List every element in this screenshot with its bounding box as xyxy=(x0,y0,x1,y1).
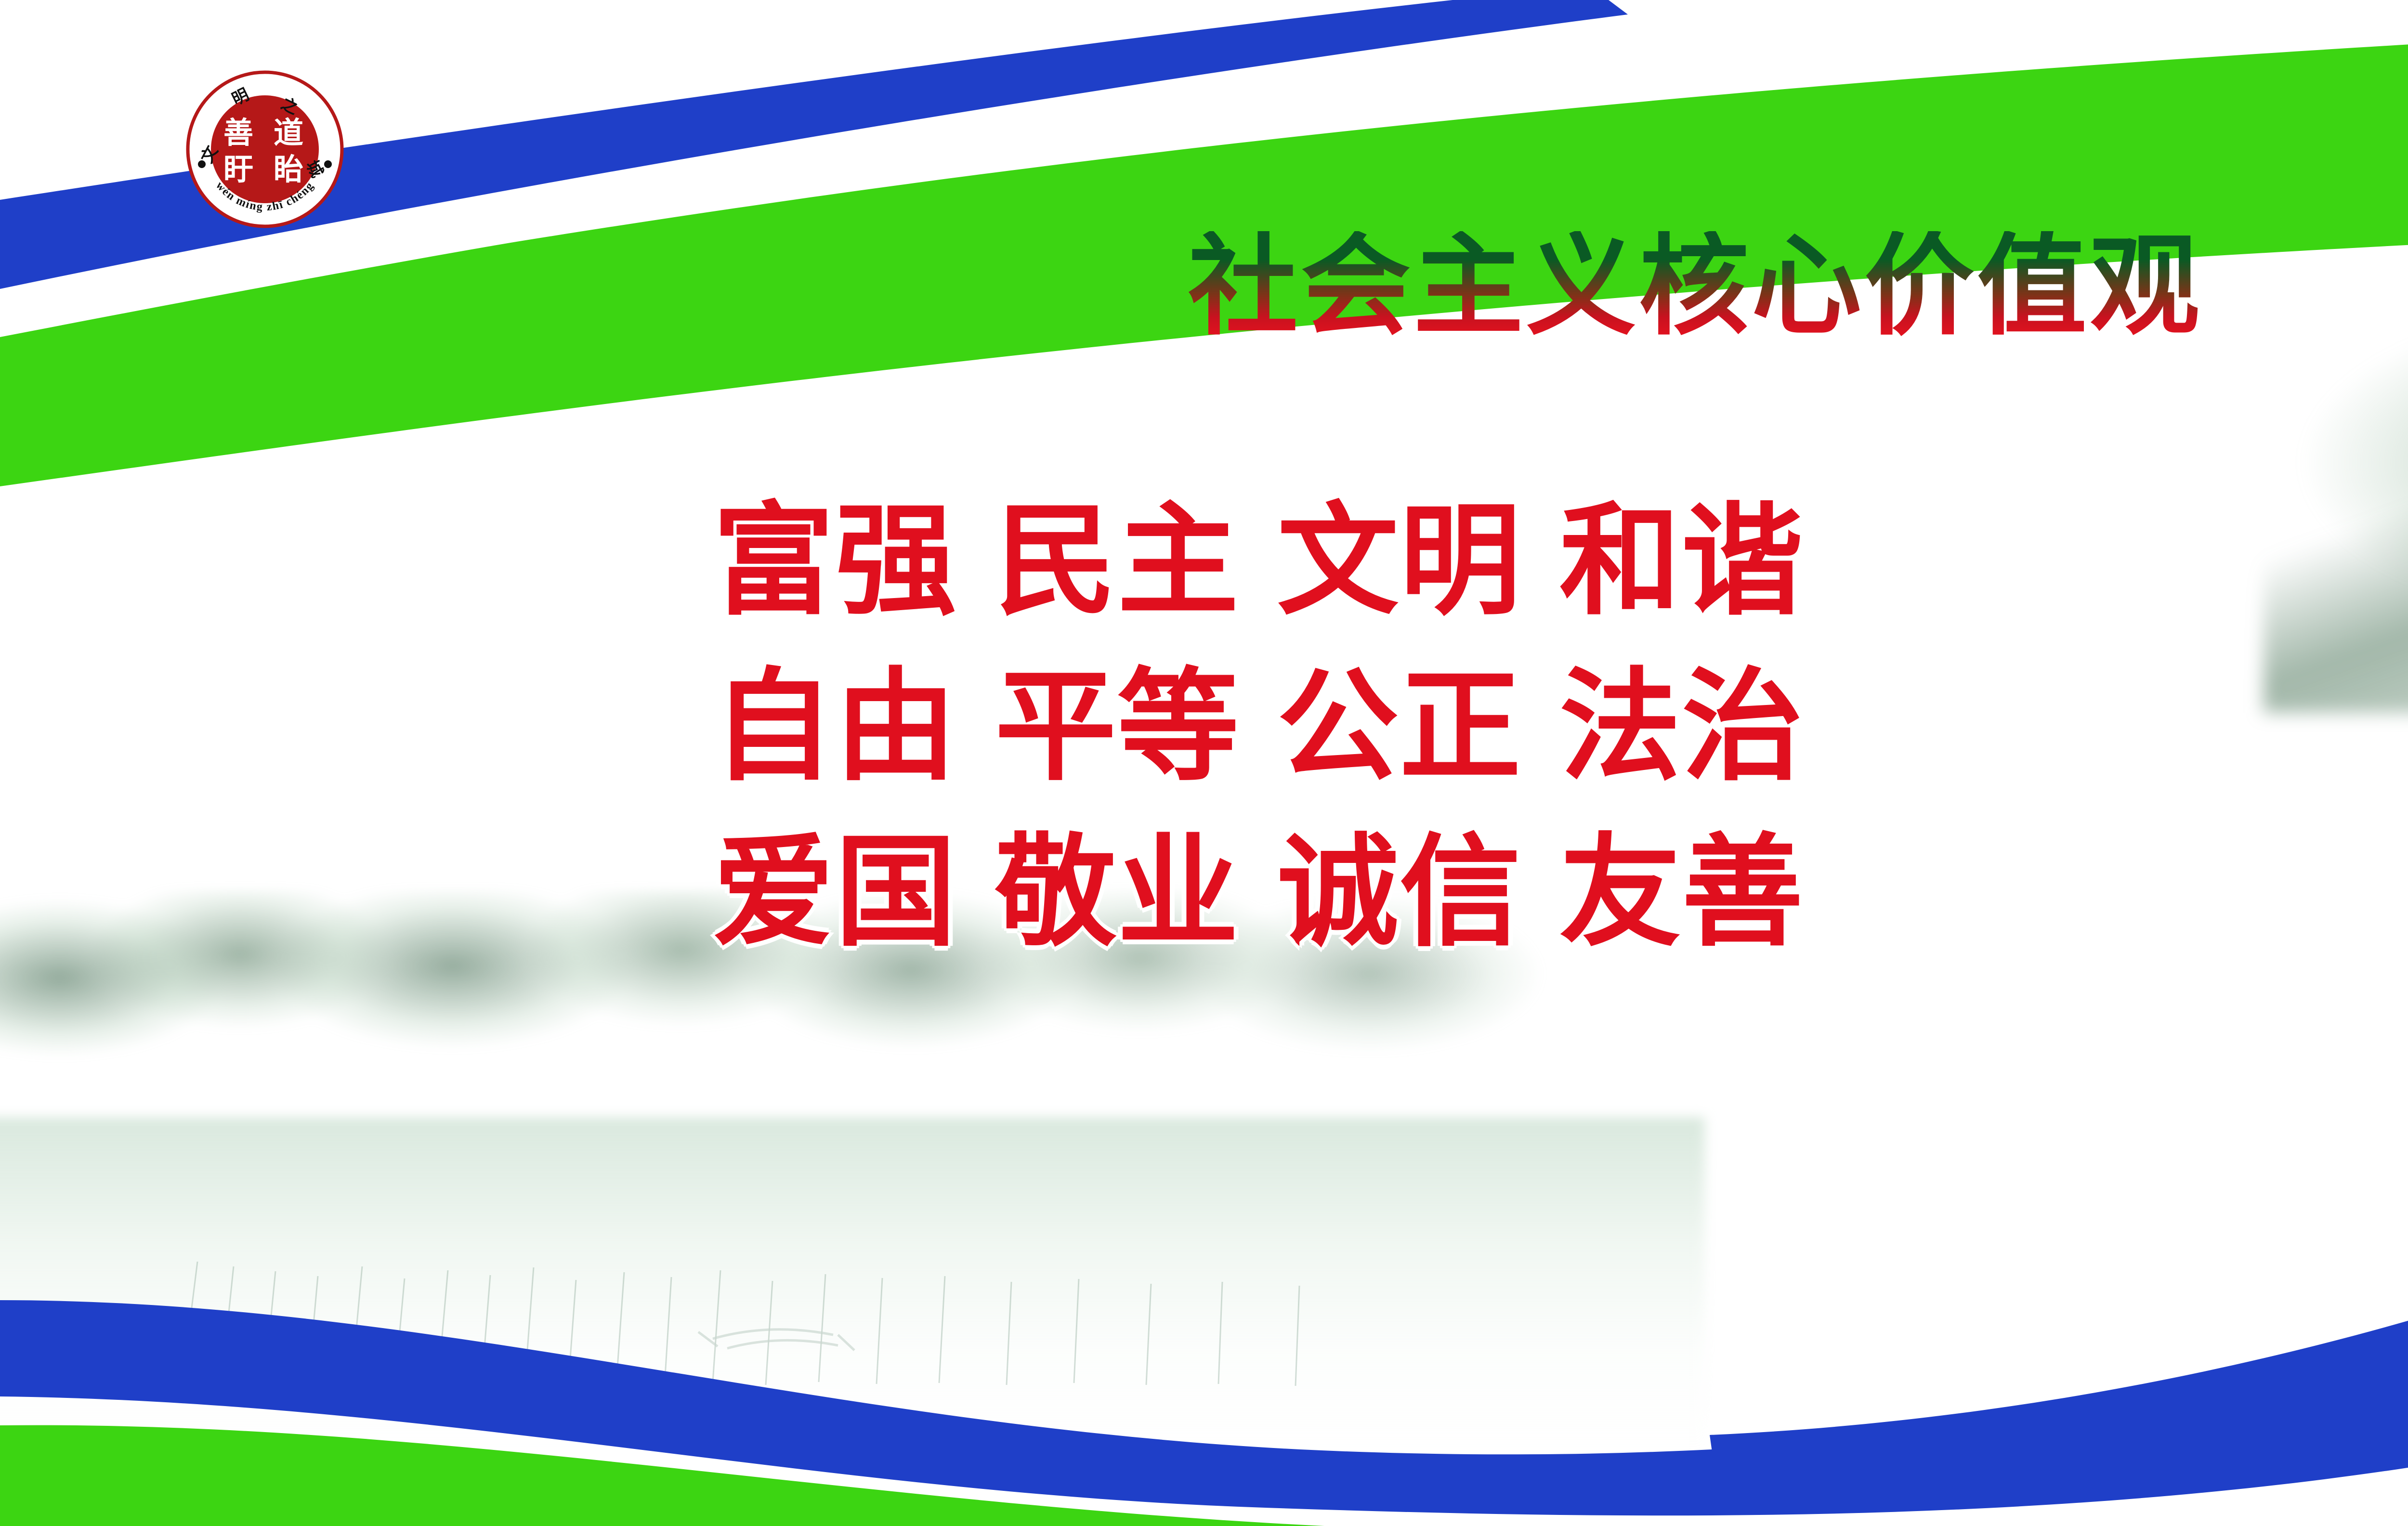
logo-center-char-shan: 善 xyxy=(223,115,253,150)
logo-center-char-yi: 眙 xyxy=(274,152,303,187)
value-line-2: 自由平等公正法治 xyxy=(713,666,2408,788)
value-word: 敬业 xyxy=(995,822,1240,963)
value-word: 自由 xyxy=(713,656,957,797)
core-values-list: 富强民主文明和谐 自由平等公正法治 爱国敬业诚信友善 xyxy=(713,501,2408,998)
logo-dot-left xyxy=(198,160,206,168)
value-word: 富强 xyxy=(713,491,957,632)
page-title: 社会主义核心价值观 xyxy=(838,231,2408,341)
value-word: 民主 xyxy=(995,491,1240,632)
value-word: 文明 xyxy=(1277,491,1522,632)
value-word: 友善 xyxy=(1559,822,1804,963)
logo-center-char-xu: 盱 xyxy=(223,152,253,187)
city-emblem-logo[interactable]: 文 明 之 城 善 道 盱 眙 wén míng zhī chéng xyxy=(185,70,344,229)
value-word: 平等 xyxy=(995,656,1240,797)
value-word: 和谐 xyxy=(1559,491,1804,632)
logo-dot-right xyxy=(324,160,332,168)
value-word: 法治 xyxy=(1559,656,1804,797)
value-word: 公正 xyxy=(1277,656,1522,797)
propaganda-banner: 文 明 之 城 善 道 盱 眙 wén míng zhī chéng 社会主义核… xyxy=(0,0,2408,1526)
logo-center-char-dao: 道 xyxy=(274,115,303,150)
value-word: 诚信 xyxy=(1277,822,1522,963)
value-line-1: 富强民主文明和谐 xyxy=(713,501,2408,622)
value-word: 爱国 xyxy=(713,822,957,963)
value-line-3: 爱国敬业诚信友善 xyxy=(713,832,2408,953)
